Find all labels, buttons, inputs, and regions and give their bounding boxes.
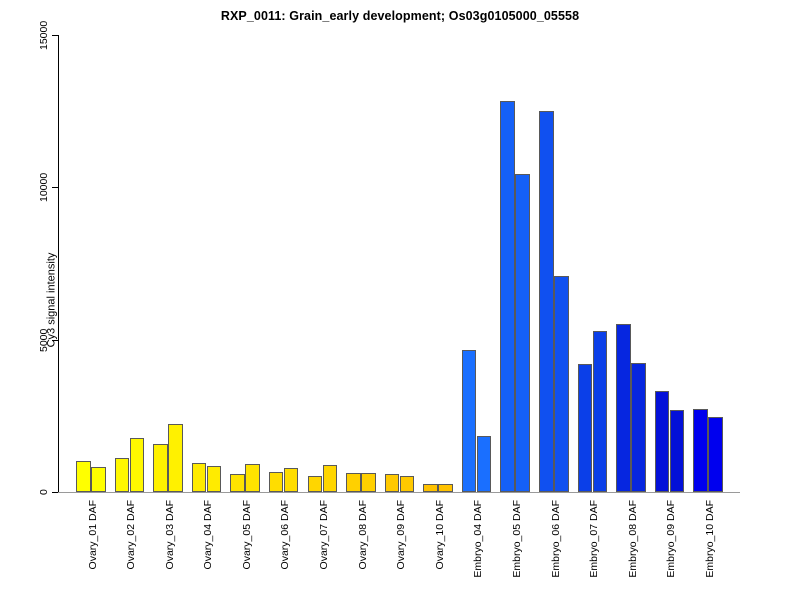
x-tick-label: Embryo_05 DAF [512,500,523,578]
bar [539,111,554,492]
bar [361,473,376,492]
bar [91,467,106,492]
bar [115,458,130,492]
y-tick-label: 5000 [38,318,50,362]
bar [153,444,168,492]
x-tick-label: Ovary_04 DAF [203,500,214,569]
x-tick-label: Embryo_08 DAF [628,500,639,578]
x-tick-label: Ovary_06 DAF [280,500,291,569]
x-tick-label: Ovary_09 DAF [396,500,407,569]
bar [207,466,222,493]
bar [245,464,260,492]
bar [438,484,453,492]
x-tick-label: Embryo_07 DAF [589,500,600,578]
bar [308,476,323,492]
bar [168,424,183,492]
bar [631,363,646,492]
y-tick-mark [52,35,58,36]
y-tick-mark [52,340,58,341]
chart-title: RXP_0011: Grain_early development; Os03g… [0,9,800,23]
x-tick-label: Ovary_02 DAF [126,500,137,569]
bar [477,436,492,492]
bar [708,417,723,492]
bar [655,391,670,492]
y-axis-line [58,35,59,492]
bar [230,474,245,492]
x-tick-label: Embryo_06 DAF [551,500,562,578]
bar [578,364,593,492]
bar [192,463,207,492]
bar [462,350,477,492]
bar [670,410,685,492]
y-tick-label: 10000 [38,165,50,209]
x-tick-label: Ovary_10 DAF [435,500,446,569]
bar [554,276,569,492]
bar [515,174,530,492]
bar [130,438,145,492]
y-tick-mark [52,187,58,188]
bar [284,468,299,492]
x-tick-label: Embryo_04 DAF [473,500,484,578]
bar [423,484,438,492]
bar [323,465,338,492]
y-tick-label: 0 [38,470,50,514]
x-tick-label: Ovary_08 DAF [358,500,369,569]
bar [269,472,284,492]
plot-area: 050001000015000 Ovary_01 DAFOvary_02 DAF… [58,30,740,498]
bar [616,324,631,492]
x-tick-label: Ovary_07 DAF [319,500,330,569]
y-tick-label: 15000 [38,13,50,57]
bar [76,461,91,492]
bar [500,101,515,492]
bar [385,474,400,492]
bar [346,473,361,492]
bar [593,331,608,492]
x-tick-label: Embryo_10 DAF [705,500,716,578]
bar [400,476,415,492]
x-tick-label: Embryo_09 DAF [666,500,677,578]
x-tick-label: Ovary_05 DAF [242,500,253,569]
x-tick-label: Ovary_03 DAF [165,500,176,569]
x-axis-line [58,492,740,493]
x-tick-label: Ovary_01 DAF [88,500,99,569]
y-tick-mark [52,492,58,493]
chart-canvas: RXP_0011: Grain_early development; Os03g… [0,0,800,600]
bar [693,409,708,492]
